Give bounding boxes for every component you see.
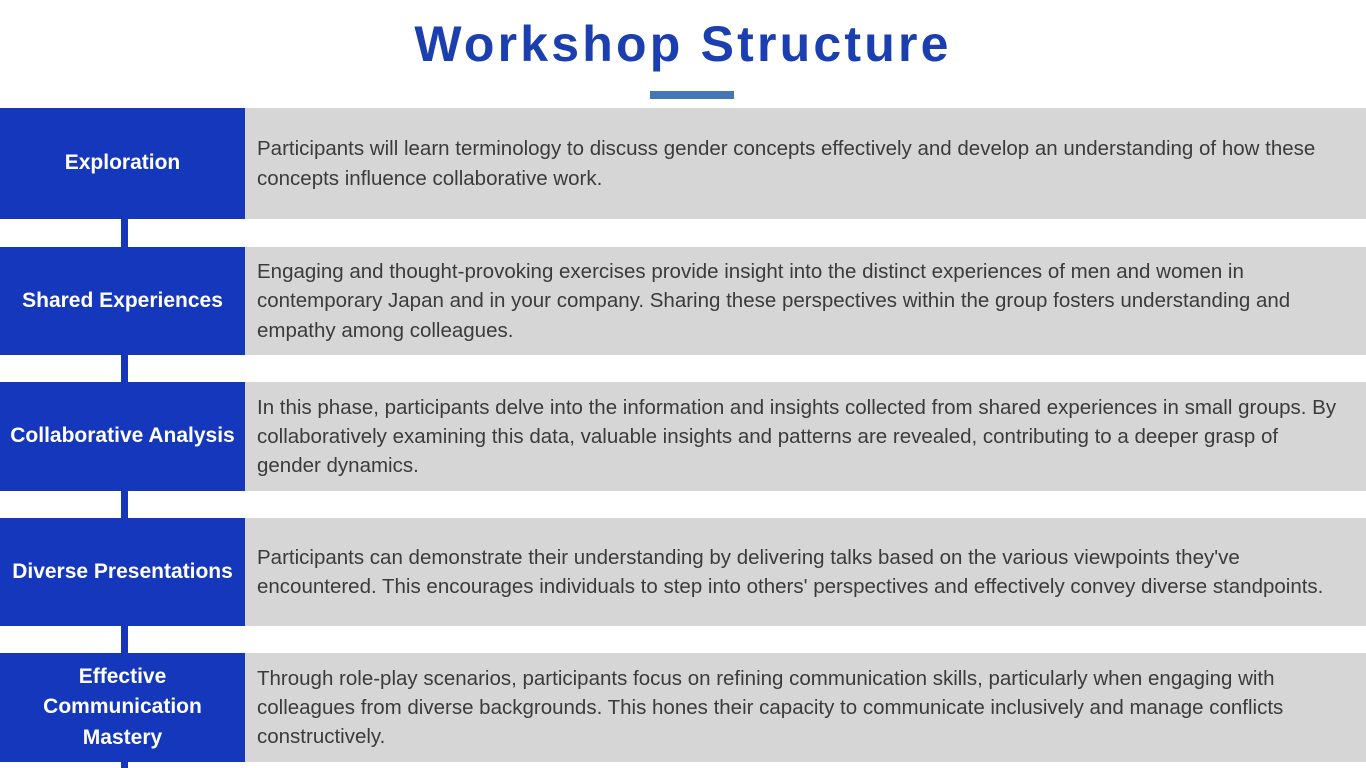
stage-label-shared-experiences[interactable]: Shared Experiences [0,247,245,355]
page-title: Workshop Structure [0,17,1366,72]
stage-description-effective-communication-mastery: Through role-play scenarios, participant… [245,653,1366,762]
stage-label-collaborative-analysis[interactable]: Collaborative Analysis [0,382,245,491]
list-item: Effective Communication Mastery Through … [0,653,1366,762]
stage-connector-1 [121,219,128,247]
stage-description-text: Engaging and thought-provoking exercises… [257,257,1342,344]
stage-description-text: In this phase, participants delve into t… [257,393,1342,480]
stage-label-diverse-presentations[interactable]: Diverse Presentations [0,518,245,626]
stage-description-text: Participants can demonstrate their under… [257,543,1342,601]
list-item: Shared Experiences Engaging and thought-… [0,247,1366,355]
stage-description-collaborative-analysis: In this phase, participants delve into t… [245,382,1366,491]
stage-connector-4 [121,626,128,653]
list-item: Diverse Presentations Participants can d… [0,518,1366,626]
stage-description-text: Through role-play scenarios, participant… [257,664,1342,751]
stage-description-exploration: Participants will learn terminology to d… [245,108,1366,219]
slide-header: Workshop Structure [0,0,1366,108]
stage-connector-3 [121,491,128,518]
stage-label-exploration[interactable]: Exploration [0,108,245,219]
list-item: Collaborative Analysis In this phase, pa… [0,382,1366,491]
stage-description-diverse-presentations: Participants can demonstrate their under… [245,518,1366,626]
stage-connector-5 [121,762,128,768]
stage-label-text: Effective Communication Mastery [8,662,237,753]
title-underline-rule [650,91,734,99]
list-item: Exploration Participants will learn term… [0,108,1366,219]
stage-connector-2 [121,355,128,382]
stage-description-text: Participants will learn terminology to d… [257,134,1342,192]
stage-label-effective-communication-mastery[interactable]: Effective Communication Mastery [0,653,245,762]
stage-description-shared-experiences: Engaging and thought-provoking exercises… [245,247,1366,355]
stage-label-text: Exploration [65,148,181,178]
workshop-structure-list: Exploration Participants will learn term… [0,108,1366,768]
stage-label-text: Shared Experiences [22,286,223,316]
stage-label-text: Diverse Presentations [12,557,233,587]
stage-label-text: Collaborative Analysis [10,421,234,451]
